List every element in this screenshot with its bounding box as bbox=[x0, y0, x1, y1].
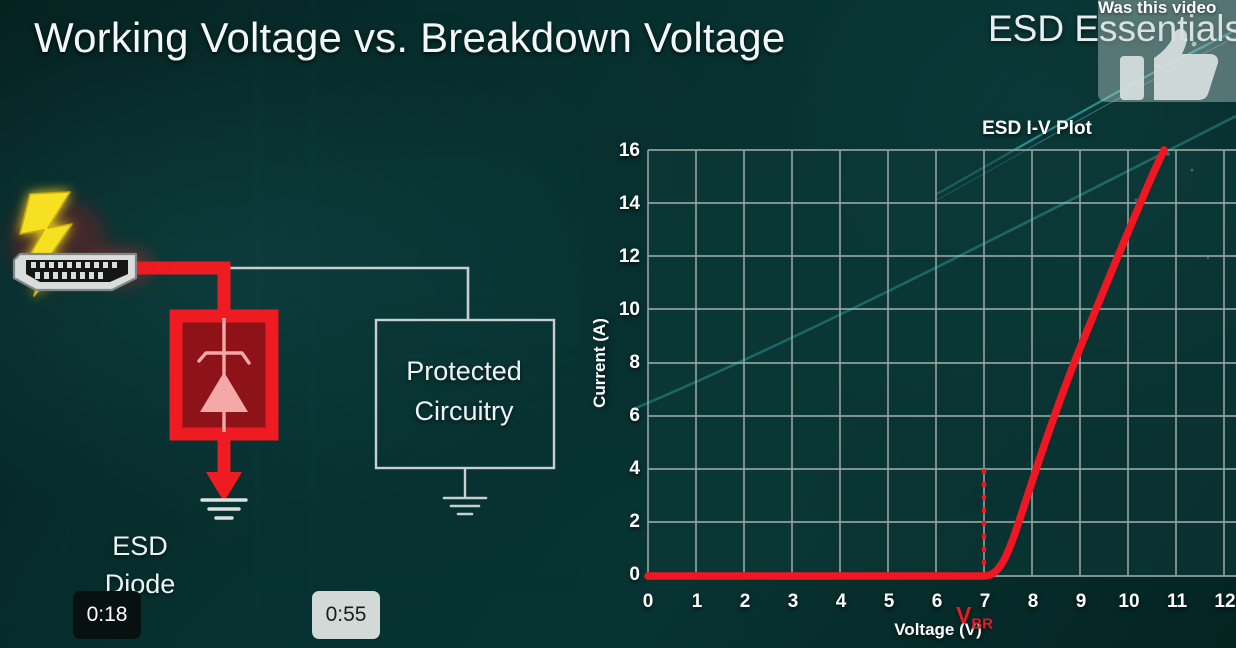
esd-diode-component bbox=[176, 316, 272, 434]
vbr-main: V bbox=[956, 602, 971, 628]
page-title: Working Voltage vs. Breakdown Voltage bbox=[34, 14, 785, 62]
vbr-subscript: BR bbox=[971, 616, 993, 633]
ground-icon-protected bbox=[444, 498, 486, 514]
ground-connection-red bbox=[206, 434, 242, 502]
video-frame: Working Voltage vs. Breakdown Voltage ES… bbox=[0, 0, 1236, 648]
chart-x-axis-label: Voltage (V) bbox=[858, 620, 1018, 640]
breakdown-voltage-label: VBR bbox=[956, 602, 993, 633]
feedback-question: Was this video bbox=[1098, 0, 1236, 18]
thumbs-up-icon[interactable] bbox=[1118, 26, 1226, 102]
chart-plot-area bbox=[578, 108, 1236, 608]
hdmi-connector bbox=[14, 254, 136, 290]
esd-diode-label-line1: ESD bbox=[112, 531, 168, 561]
feedback-overlay[interactable]: Was this video bbox=[1098, 0, 1236, 102]
protected-label-line2: Circuitry bbox=[415, 396, 514, 426]
timestamp-current[interactable]: 0:18 bbox=[73, 591, 141, 639]
ground-icon-esd bbox=[202, 500, 246, 518]
timestamp-total[interactable]: 0:55 bbox=[312, 591, 380, 639]
esd-iv-chart: ESD I-V Plot Current (A) Voltage (V) 16 … bbox=[578, 108, 1236, 648]
protected-label-line1: Protected bbox=[406, 356, 522, 386]
protected-circuitry-label: Protected Circuitry bbox=[378, 352, 550, 432]
